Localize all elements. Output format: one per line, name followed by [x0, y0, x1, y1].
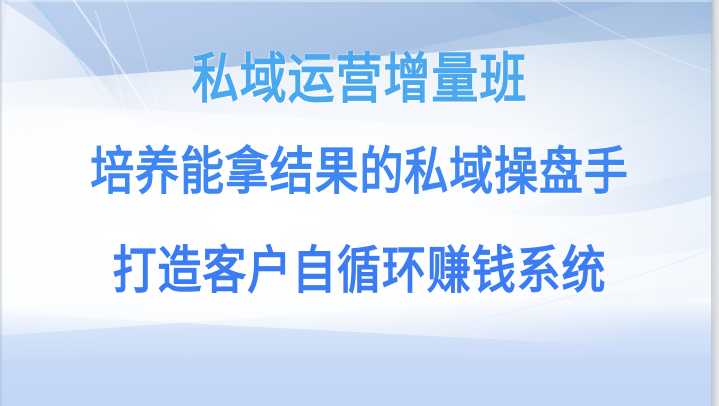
headline-block: 私域运营增量班 培养能拿结果的私域操盘手 打造客户自循环赚钱系统	[0, 0, 719, 406]
headline-line-3: 打造客户自循环赚钱系统	[113, 246, 607, 297]
headline-line-2: 培养能拿结果的私域操盘手	[90, 147, 629, 198]
promo-banner: 私域运营增量班 培养能拿结果的私域操盘手 打造客户自循环赚钱系统	[0, 0, 719, 406]
headline-line-1: 私域运营增量班	[192, 52, 528, 107]
